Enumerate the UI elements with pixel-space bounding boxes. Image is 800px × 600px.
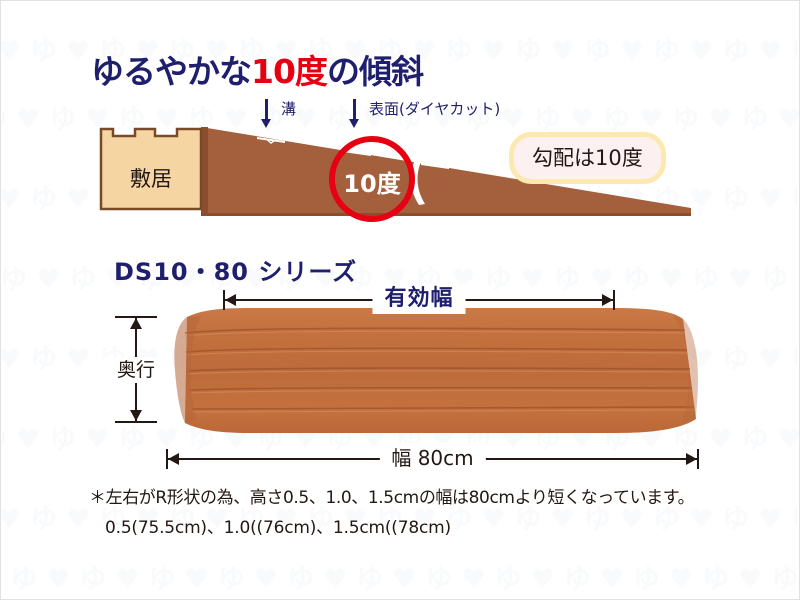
threshold-label: 敷居: [99, 163, 203, 193]
effective-width-dimension: 有効幅: [223, 289, 615, 311]
title-suffix: の傾斜: [327, 52, 423, 91]
arrow-right-icon: [602, 294, 613, 306]
footnote-block: ＊左右がR形状の為、高さ0.5、1.0、1.5cmの幅は80cmより短くなってい…: [89, 483, 694, 538]
angle-value-label: 10度: [331, 164, 413, 199]
total-width-label: 幅 80cm: [379, 443, 485, 473]
effective-width-label: 有効幅: [372, 284, 465, 314]
arrow-right-icon: [686, 453, 697, 465]
side-view-diagram: 溝 表面(ダイヤカット) 敷居: [1, 96, 800, 231]
page-title: ゆるやかな10度の傾斜: [91, 45, 423, 93]
slope-badge: 勾配は10度: [509, 132, 666, 184]
title-prefix: ゆるやかな: [91, 52, 251, 91]
threshold-block: 敷居: [99, 127, 203, 211]
total-width-dimension: 幅 80cm: [166, 448, 699, 470]
footnote-line-1: ＊左右がR形状の為、高さ0.5、1.0、1.5cmの幅は80cmより短くなってい…: [89, 483, 694, 508]
title-highlight: 10度: [251, 52, 327, 91]
arrow-up-icon: [130, 318, 142, 329]
depth-label: 奥行: [103, 357, 169, 383]
arrow-down-icon: [130, 410, 142, 421]
ramp-top-view-shape: [161, 307, 706, 435]
series-title: DS10・80 シリーズ: [114, 252, 357, 287]
depth-dimension: 奥行: [125, 316, 147, 423]
arrow-left-icon: [225, 294, 236, 306]
watermark-line: ゆ♥ゆ♥ゆ♥ゆ♥ゆ♥ゆ♥ゆ♥ゆ♥ゆ♥ゆ♥ゆ♥ゆ♥ゆ♥ゆ♥ゆ♥ゆ♥ゆ♥ゆ♥: [0, 557, 800, 596]
footnote-line-2: 0.5(75.5cm)、1.0((76cm)、1.5cm((78cm): [89, 513, 694, 538]
arrow-left-icon: [168, 453, 179, 465]
product-diagram-page: ゆ♥ゆ♥ゆ♥ゆ♥ゆ♥ゆ♥ゆ♥ゆ♥ゆ♥ゆ♥ゆ♥ゆ♥ゆ♥ゆ♥ゆ♥ゆ♥ゆ♥ゆ♥ ゆ♥ゆ…: [0, 0, 800, 600]
